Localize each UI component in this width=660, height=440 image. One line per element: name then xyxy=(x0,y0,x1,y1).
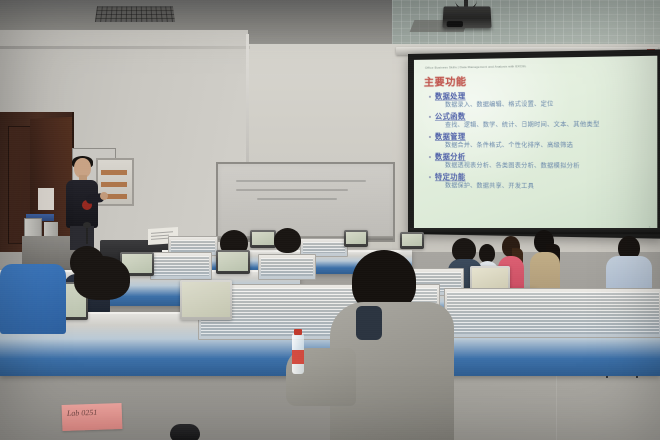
desk-label-note: Lab 0251 xyxy=(62,403,123,431)
wall-seam xyxy=(0,46,250,49)
desk-privacy-divider xyxy=(258,254,316,280)
computer-mouse[interactable] xyxy=(170,424,200,440)
projection-screen: Office Business Skills | Data Management… xyxy=(408,49,660,238)
classroom-photo: Office Business Skills | Data Management… xyxy=(0,0,660,440)
projector-icon xyxy=(442,6,491,28)
student-collar xyxy=(356,306,382,340)
slide-section-heading: 数据管理 xyxy=(428,131,649,142)
monitor-screen xyxy=(218,252,248,271)
slide-section-detail: 数据透视表分析、各类图表分析、数据模拟分析 xyxy=(428,162,649,172)
divider-glass xyxy=(447,292,659,334)
slide-section: 数据管理 数据合并、条件格式、个性化排序、高级筛选 xyxy=(428,131,649,151)
slide-title: 主要功能 xyxy=(424,73,467,89)
bottle-cap xyxy=(294,329,302,335)
desk-privacy-divider xyxy=(150,252,212,280)
whiteboard-writing xyxy=(236,180,366,214)
instructor-hand xyxy=(100,192,108,200)
monitor-screen xyxy=(252,232,274,245)
slide-section-detail: 数据合并、条件格式、个性化排序、高级筛选 xyxy=(428,142,649,151)
student-head xyxy=(274,228,301,253)
presentation-slide: Office Business Skills | Data Management… xyxy=(414,56,657,234)
monitor-screen xyxy=(182,282,230,317)
slide-section: 数据处理 数据录入、数据编辑、格式设置、定位 xyxy=(428,89,649,110)
ceiling-vent-icon xyxy=(95,6,175,22)
slide-section-detail: 数据录入、数据编辑、格式设置、定位 xyxy=(428,100,649,111)
monitor-screen xyxy=(346,232,366,244)
water-bottle[interactable] xyxy=(292,334,304,374)
bottle-label xyxy=(292,350,304,364)
desk-privacy-divider xyxy=(444,288,660,338)
student-head xyxy=(74,256,130,300)
slide-section: 公式函数 查找、逻辑、数学、统计、日期时间、文本、其他类型 xyxy=(428,110,649,131)
slide-body: 数据处理 数据录入、数据编辑、格式设置、定位 公式函数 查找、逻辑、数学、统计、… xyxy=(428,89,649,194)
student-dark-hair-foreground xyxy=(64,256,150,326)
slide-section-detail: 查找、逻辑、数学、统计、日期时间、文本、其他类型 xyxy=(428,121,649,131)
slide-header-text: Office Business Skills | Data Management… xyxy=(425,62,649,70)
door-notice-paper xyxy=(38,188,54,210)
instructor xyxy=(58,158,110,250)
slide-section: 特定功能 数据保护、数据共享、开发工具 xyxy=(428,172,649,193)
monitor-screen xyxy=(402,234,422,246)
student-blue-coat-left xyxy=(0,258,66,338)
slide-section: 数据分析 数据透视表分析、各类图表分析、数据模拟分析 xyxy=(428,152,649,172)
crt-monitor xyxy=(216,250,250,274)
lcd-monitor xyxy=(180,280,232,320)
divider-glass xyxy=(261,258,313,276)
student-front-gray-jacket xyxy=(330,250,450,440)
crt-monitor xyxy=(344,230,368,247)
desk-microphone xyxy=(86,226,88,244)
crt-monitor xyxy=(400,232,424,249)
divider-glass xyxy=(171,240,215,252)
student-torso xyxy=(0,264,66,334)
desk-label-text: Lab 0251 xyxy=(67,408,98,418)
divider-glass xyxy=(153,256,209,276)
slide-section-detail: 数据保护、数据共享、开发工具 xyxy=(428,182,649,193)
